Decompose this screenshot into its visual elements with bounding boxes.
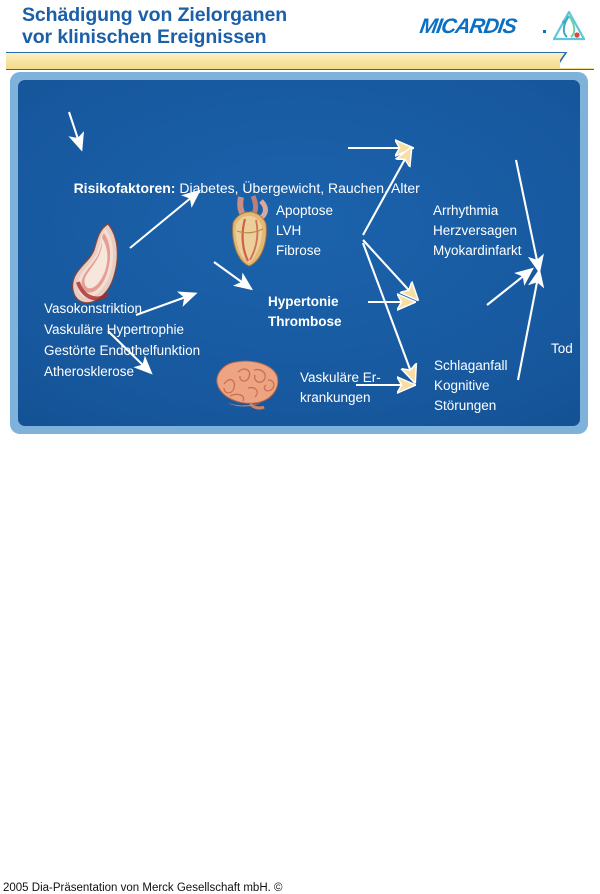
- brand-dot: [543, 30, 546, 33]
- left-mechanisms-text: Vasokonstriktion Vaskuläre Hypertrophie …: [44, 298, 200, 382]
- brand-wordmark: MICARDIS: [418, 15, 518, 39]
- page-title-line1: Schädigung von Zielorganen: [22, 4, 287, 26]
- brain-image: [210, 358, 282, 410]
- diagram-panel: Risikofaktoren: Diabetes, Übergewicht, R…: [18, 80, 580, 426]
- page-title: Schädigung von Zielorganen vor klinische…: [22, 4, 422, 48]
- central-node-text: Hypertonie Thrombose: [268, 292, 342, 332]
- risk-factors-values: Diabetes, Übergewicht, Rauchen, Alter: [179, 180, 419, 196]
- blood-vessel-image: [68, 220, 126, 308]
- slide-footer: 2005 Dia-Präsentation von Merck Gesellsc…: [0, 434, 600, 508]
- slide-header: Schädigung von Zielorganen vor klinische…: [0, 0, 600, 52]
- risk-factors-label: Risikofaktoren:: [74, 180, 176, 196]
- copyright-credit: 2005 Dia-Präsentation von Merck Gesellsc…: [3, 882, 282, 894]
- kidney-image: [170, 425, 230, 426]
- accent-band-tail: [560, 52, 600, 68]
- triangle-logo-icon: [553, 11, 585, 41]
- accent-band: [6, 52, 594, 70]
- outcome-text: Tod: [551, 339, 573, 358]
- micardis-logo: MICARDIS: [420, 10, 590, 42]
- cerebral-events-text: Schlaganfall Kognitive Störungen: [434, 356, 508, 416]
- page-title-line2: vor klinischen Ereignissen: [22, 26, 422, 48]
- cardiac-events-text: Arrhythmia Herzversagen Myokardinfarkt: [433, 201, 522, 261]
- cardiac-changes-text: Apoptose LVH Fibrose: [276, 201, 333, 261]
- vascular-disease-text: Vaskuläre Er- krankungen: [300, 368, 381, 408]
- risk-factors-line: Risikofaktoren: Diabetes, Übergewicht, R…: [58, 160, 420, 217]
